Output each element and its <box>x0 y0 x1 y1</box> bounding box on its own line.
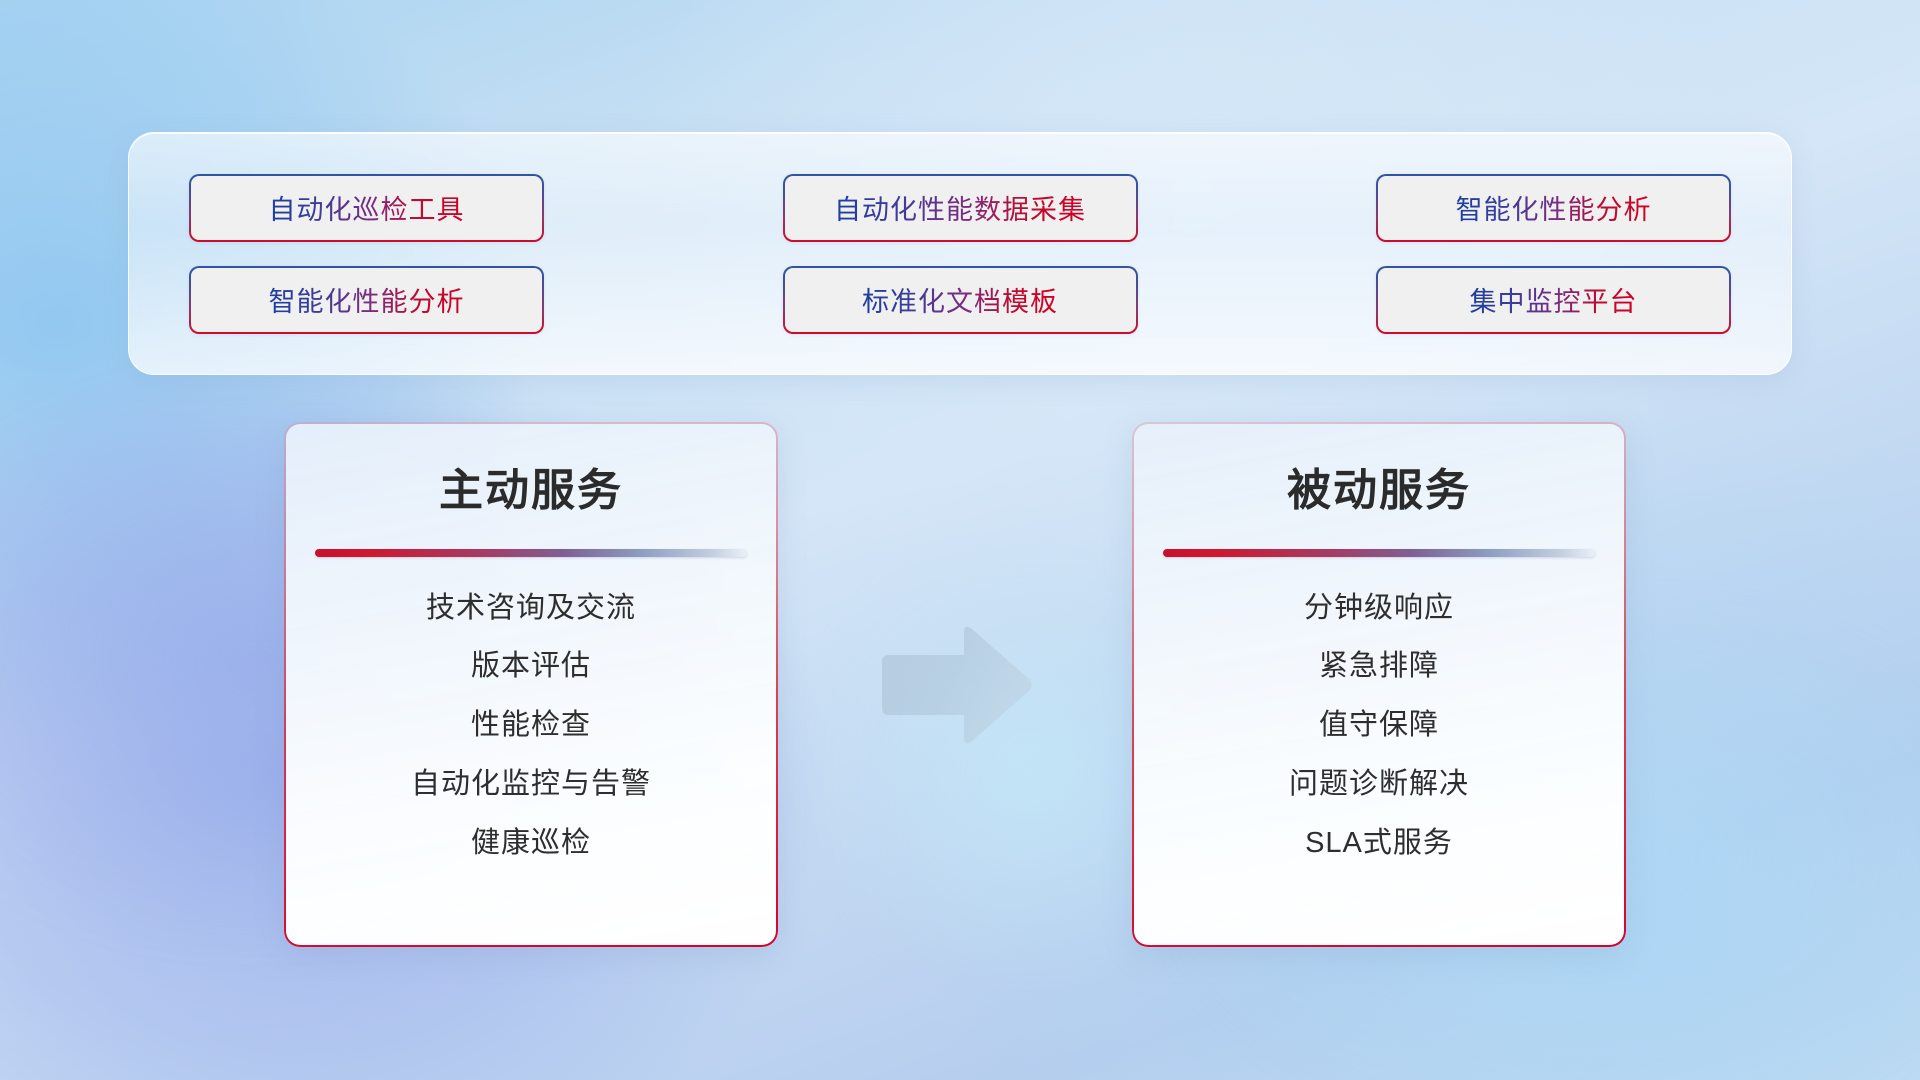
capability-row-1: 自动化巡检工具 自动化性能数据采集 智能化性能分析 <box>189 174 1731 242</box>
list-item: 分钟级响应 <box>1304 591 1454 626</box>
card-divider <box>1163 549 1595 557</box>
capability-pill-label: 自动化性能数据采集 <box>834 188 1086 227</box>
service-list-reactive: 分钟级响应 紧急排障 值守保障 问题诊断解决 SLA式服务 <box>1160 591 1598 861</box>
right-arrow-icon <box>876 620 1036 750</box>
capability-pill-2-2[interactable]: 标准化文档模板 <box>783 266 1138 334</box>
list-item: SLA式服务 <box>1305 826 1453 861</box>
list-item: 问题诊断解决 <box>1289 767 1469 802</box>
card-title-proactive: 主动服务 <box>312 466 750 517</box>
service-card-reactive: 被动服务 分钟级响应 紧急排障 值守保障 问题诊断解决 SLA式服务 <box>1132 422 1626 947</box>
card-divider <box>315 549 747 557</box>
list-item: 紧急排障 <box>1319 649 1439 684</box>
service-list-proactive: 技术咨询及交流 版本评估 性能检查 自动化监控与告警 健康巡检 <box>312 591 750 861</box>
capability-pill-2-1[interactable]: 智能化性能分析 <box>189 266 544 334</box>
capability-panel: 自动化巡检工具 自动化性能数据采集 智能化性能分析 智能化性能分析 标准化文档模… <box>128 132 1792 375</box>
capability-pill-1-3[interactable]: 智能化性能分析 <box>1376 174 1731 242</box>
list-item: 值守保障 <box>1319 708 1439 743</box>
capability-pill-label: 智能化性能分析 <box>1456 188 1652 227</box>
capability-pill-1-1[interactable]: 自动化巡检工具 <box>189 174 544 242</box>
capability-pill-2-3[interactable]: 集中监控平台 <box>1376 266 1731 334</box>
capability-row-2: 智能化性能分析 标准化文档模板 集中监控平台 <box>189 266 1731 334</box>
list-item: 版本评估 <box>471 649 591 684</box>
service-card-proactive: 主动服务 技术咨询及交流 版本评估 性能检查 自动化监控与告警 健康巡检 <box>284 422 778 947</box>
capability-pill-label: 标准化文档模板 <box>862 280 1058 319</box>
capability-pill-1-2[interactable]: 自动化性能数据采集 <box>783 174 1138 242</box>
list-item: 健康巡检 <box>471 826 591 861</box>
capability-pill-label: 集中监控平台 <box>1470 280 1638 319</box>
capability-pill-label: 智能化性能分析 <box>269 280 465 319</box>
list-item: 性能检查 <box>471 708 591 743</box>
list-item: 技术咨询及交流 <box>426 591 636 626</box>
list-item: 自动化监控与告警 <box>411 767 651 802</box>
capability-pill-label: 自动化巡检工具 <box>269 188 465 227</box>
card-title-reactive: 被动服务 <box>1160 466 1598 517</box>
